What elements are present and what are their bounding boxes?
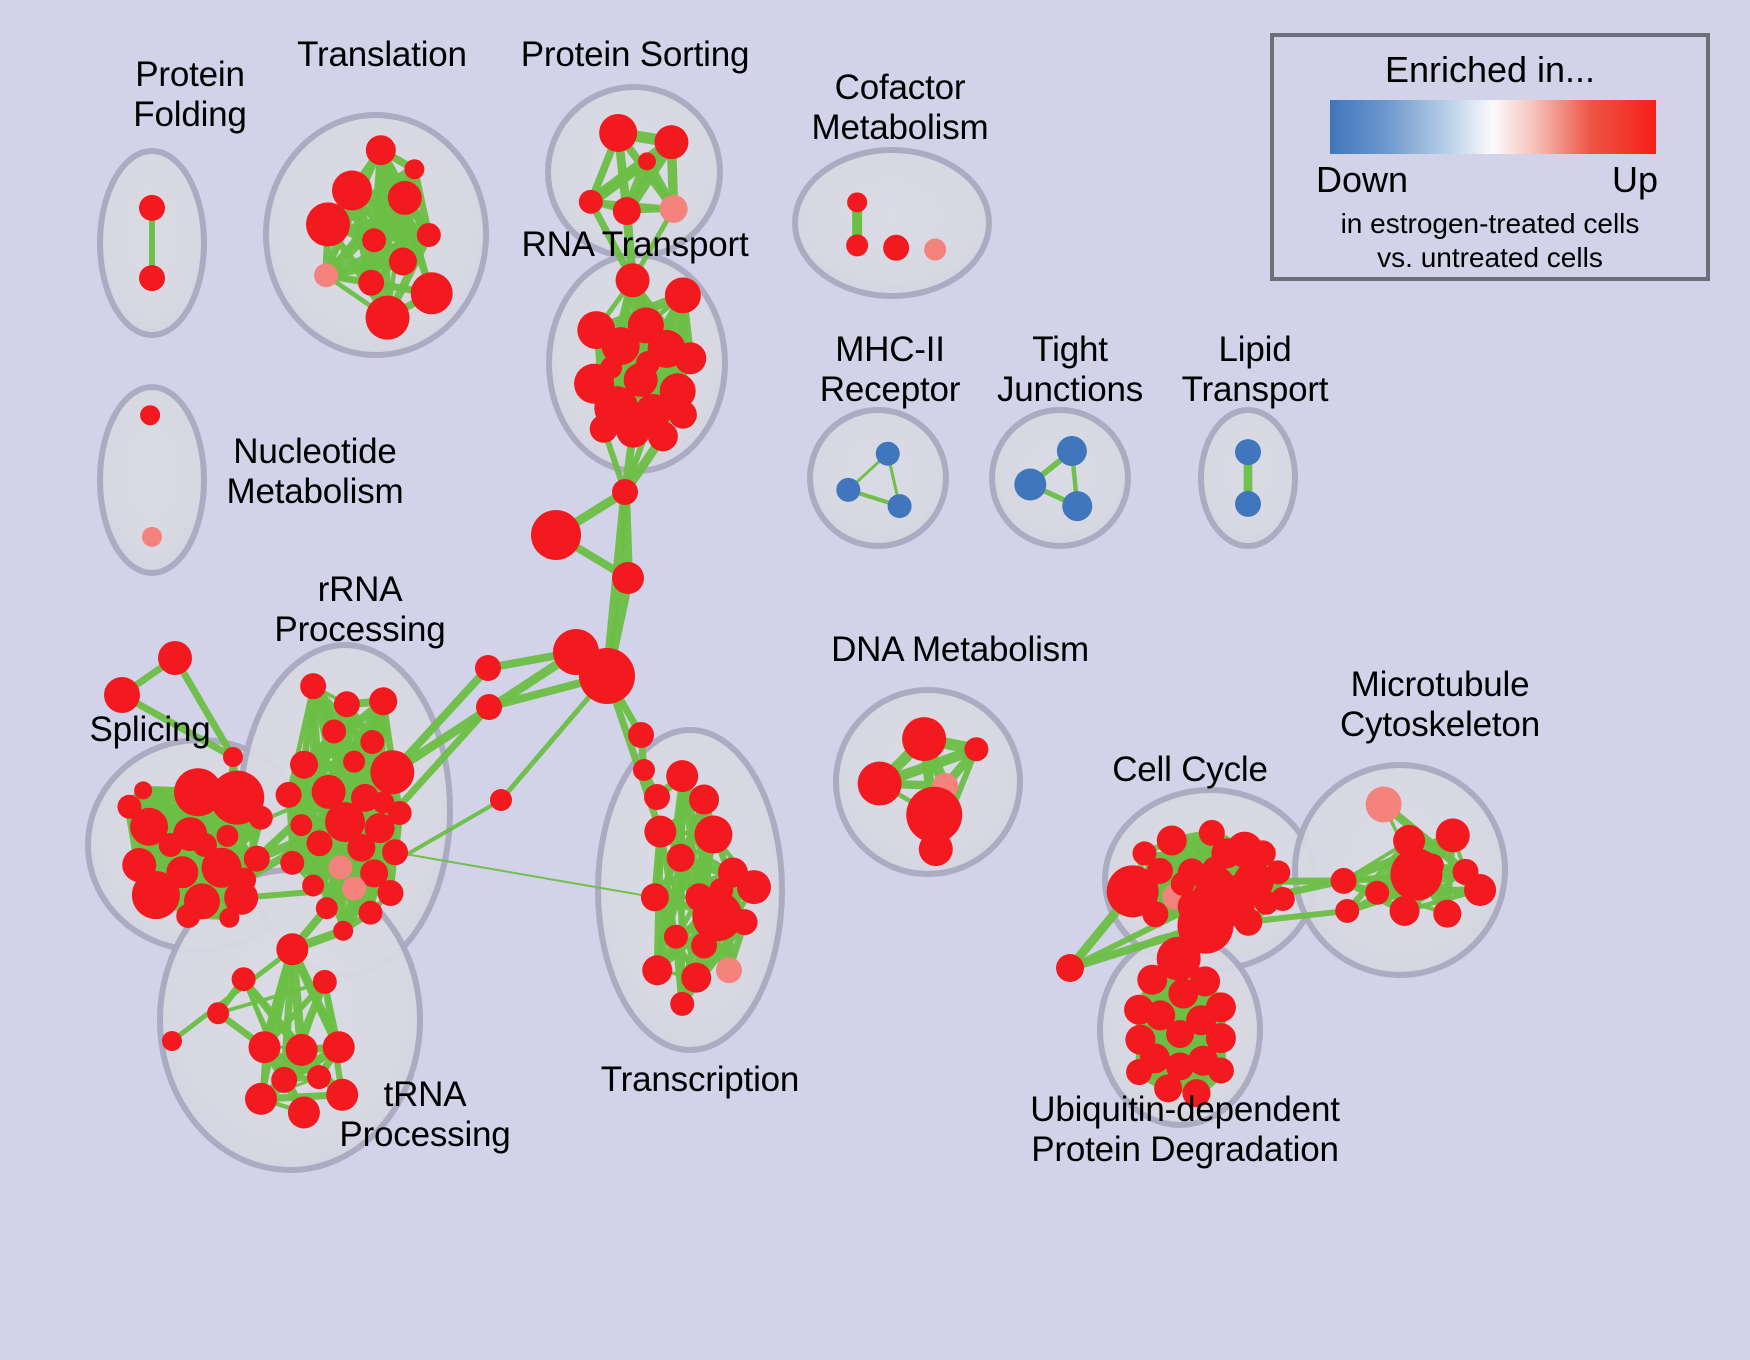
legend-title: Enriched in... [1274, 49, 1706, 91]
network-node-transcription [681, 963, 711, 993]
network-node-lipid-transport [1235, 439, 1261, 465]
network-node-splicing [232, 868, 256, 892]
network-node-ubiquitin-protein-degradation [1126, 1059, 1152, 1085]
cluster-label-microtubule-cytoskeleton: Microtubule Cytoskeleton [1290, 665, 1590, 745]
network-node-microtubule-cytoskeleton [1335, 899, 1359, 923]
network-node-splicing [159, 833, 183, 857]
network-node-cell-cycle [1171, 872, 1195, 896]
network-node-microtubule-cytoskeleton [1390, 896, 1420, 926]
network-node-protein-sorting [638, 152, 656, 170]
network-node-trna-processing [207, 1002, 229, 1024]
network-node-transcription [737, 870, 771, 904]
legend-low-label: Down [1316, 159, 1408, 201]
network-node-rna-transport [636, 351, 660, 375]
network-node-protein-sorting [654, 125, 688, 159]
network-node-rna-transport [669, 401, 697, 429]
network-node-backbone-node-7 [476, 694, 502, 720]
network-node-rna-transport [674, 342, 706, 374]
network-node-rrna-processing [300, 673, 326, 699]
network-node-mhc-ii-receptor [836, 478, 860, 502]
network-node-splicing [219, 908, 239, 928]
network-node-nucleotide-metabolism [140, 405, 160, 425]
network-node-trna-processing [286, 1034, 318, 1066]
network-node-transcription [667, 844, 695, 872]
network-node-backbone-node-5 [579, 648, 635, 704]
network-node-translation [404, 159, 424, 179]
network-node-translation [388, 181, 422, 215]
network-node-rrna-processing [307, 830, 333, 856]
network-node-cell-cycle [1271, 887, 1295, 911]
network-node-backbone-node-1 [612, 479, 638, 505]
network-node-backbone-node-6 [475, 655, 501, 681]
network-node-transcription [670, 992, 694, 1016]
network-node-translation [366, 135, 396, 165]
legend-color-scale [1330, 100, 1656, 154]
network-node-lipid-transport [1235, 491, 1261, 517]
network-node-splicing [244, 846, 270, 872]
network-node-ubiquitin-protein-degradation [1166, 1020, 1194, 1048]
network-node-microtubule-cytoskeleton [1331, 868, 1357, 894]
network-node-rrna-processing [302, 875, 324, 897]
network-node-microtubule-cytoskeleton [1433, 900, 1461, 928]
network-node-backbone-node-9 [633, 759, 655, 781]
network-node-microtubule-cytoskeleton [1366, 786, 1402, 822]
cluster-label-splicing: Splicing [55, 710, 245, 750]
network-node-transcription [709, 878, 733, 902]
network-node-cofactor-metabolism [846, 234, 868, 256]
network-node-cofactor-metabolism [883, 235, 909, 261]
network-node-rrna-processing [347, 834, 375, 862]
network-node-translation [411, 272, 453, 314]
network-node-protein-sorting [579, 190, 603, 214]
network-node-splicing [249, 806, 273, 830]
network-node-rrna-processing [322, 719, 346, 743]
network-node-protein-sorting [599, 114, 637, 152]
network-node-microtubule-cytoskeleton [1420, 853, 1444, 877]
network-node-rrna-processing [372, 791, 394, 813]
network-node-tight-junctions [1057, 436, 1087, 466]
network-node-trna-processing [323, 1031, 355, 1063]
network-node-trna-processing [271, 1067, 297, 1093]
network-node-dna-metabolism [858, 762, 902, 806]
network-node-rna-transport [590, 415, 618, 443]
network-node-rrna-processing [343, 751, 365, 773]
network-node-transcription [689, 784, 719, 814]
network-node-rrna-processing [333, 921, 353, 941]
network-node-transcription [732, 909, 758, 935]
network-node-rna-transport [600, 357, 622, 379]
network-node-rrna-processing [280, 851, 304, 875]
cluster-label-cell-cycle: Cell Cycle [1075, 750, 1305, 790]
network-node-rrna-processing [276, 782, 302, 808]
network-node-backbone-node-10 [644, 784, 670, 810]
network-node-ubiquitin-protein-degradation [1168, 979, 1198, 1009]
network-node-splicing-spur-a [158, 641, 192, 675]
network-node-rrna-processing [370, 750, 414, 794]
network-node-rna-transport [616, 414, 650, 448]
network-node-splicing [176, 904, 200, 928]
network-node-backbone-node-2 [531, 510, 581, 560]
network-node-cofactor-metabolism [847, 192, 867, 212]
cluster-label-mhc-ii-receptor: MHC-II Receptor [790, 330, 990, 410]
network-node-protein-folding [139, 195, 165, 221]
network-node-transcription [641, 883, 669, 911]
network-node-trna-processing [232, 967, 256, 991]
network-node-trna-processing [245, 1083, 277, 1115]
cluster-label-nucleotide-metabolism: Nucleotide Metabolism [185, 432, 445, 512]
network-node-backbone-node-3 [612, 562, 644, 594]
legend-box: Enriched in... Down Up in estrogen-treat… [1270, 33, 1710, 281]
cluster-label-rna-transport: RNA Transport [490, 225, 780, 265]
network-node-translation [366, 296, 410, 340]
network-node-protein-folding [139, 265, 165, 291]
cluster-label-translation: Translation [252, 35, 512, 75]
network-node-rrna-processing [382, 839, 408, 865]
cluster-hull-cofactor-metabolism [795, 150, 989, 296]
network-node-mhc-ii-receptor [876, 442, 900, 466]
network-node-transcription [666, 760, 698, 792]
network-node-transcription [644, 816, 676, 848]
network-node-cell-cycle [1250, 840, 1276, 866]
network-node-trna-processing [313, 970, 337, 994]
network-node-splicing [117, 795, 141, 819]
network-node-rna-transport [616, 263, 650, 297]
network-node-ubiquitin-protein-degradation [1137, 965, 1167, 995]
network-node-splicing-spur-b [104, 677, 140, 713]
cluster-label-rrna-processing: rRNA Processing [235, 570, 485, 650]
network-node-dna-metabolism [902, 717, 946, 761]
network-node-rrna-processing [342, 877, 366, 901]
network-node-microtubule-cytoskeleton [1464, 874, 1496, 906]
cluster-label-lipid-transport: Lipid Transport [1155, 330, 1355, 410]
cluster-label-trna-processing: tRNA Processing [300, 1075, 550, 1155]
network-node-mhc-ii-receptor [888, 494, 912, 518]
network-node-rna-transport [665, 277, 701, 313]
network-node-backbone-node-8 [628, 722, 654, 748]
network-node-tight-junctions [1062, 491, 1092, 521]
network-node-splicing-spur-c [223, 747, 243, 767]
network-node-trna-processing [276, 933, 308, 965]
network-node-nucleotide-metabolism [142, 527, 162, 547]
legend-high-label: Up [1612, 159, 1658, 201]
cluster-label-tight-junctions: Tight Junctions [975, 330, 1165, 410]
network-node-ubq-bridge-node [1056, 954, 1084, 982]
network-node-dna-metabolism [919, 832, 953, 866]
network-node-trna-processing [248, 1031, 280, 1063]
network-node-ubiquitin-protein-degradation [1208, 1058, 1234, 1084]
network-node-rrna-processing [290, 751, 318, 779]
network-node-transcription [642, 955, 672, 985]
network-node-cell-cycle [1157, 825, 1187, 855]
network-node-backbone-node-11 [490, 789, 512, 811]
network-node-splicing [216, 825, 238, 847]
network-node-tight-junctions [1014, 468, 1046, 500]
network-node-transcription [716, 957, 742, 983]
network-node-cell-cycle [1234, 908, 1262, 936]
network-node-microtubule-cytoskeleton [1365, 881, 1389, 905]
network-node-trna-spur [162, 1031, 182, 1051]
network-node-protein-sorting [613, 197, 641, 225]
network-node-transcription [694, 816, 732, 854]
network-node-rrna-processing [328, 855, 352, 879]
network-node-rrna-processing [358, 901, 382, 925]
cluster-label-dna-metabolism: DNA Metabolism [800, 630, 1120, 670]
network-node-translation [314, 263, 338, 287]
network-node-transcription [691, 932, 717, 958]
cluster-label-ubiquitin-protein-degradation: Ubiquitin-dependent Protein Degradation [975, 1090, 1395, 1170]
network-node-transcription [664, 925, 688, 949]
network-node-rrna-processing [378, 880, 404, 906]
network-node-cell-cycle [1142, 901, 1168, 927]
network-node-cofactor-metabolism [924, 239, 946, 261]
cluster-label-transcription: Transcription [565, 1060, 835, 1100]
network-node-rrna-processing [360, 730, 384, 754]
network-node-translation [306, 202, 350, 246]
network-node-cell-cycle [1193, 882, 1217, 906]
network-node-rrna-processing [334, 691, 360, 717]
network-node-rrna-processing [369, 687, 397, 715]
network-node-splicing [132, 871, 180, 919]
network-node-cell-cycle [1203, 857, 1227, 881]
cluster-hull-tight-junctions [992, 410, 1128, 546]
network-node-rrna-processing [290, 814, 312, 836]
network-node-translation [358, 270, 384, 296]
network-node-rrna-processing [316, 897, 338, 919]
network-node-cell-cycle [1132, 841, 1156, 865]
network-node-cell-cycle [1224, 875, 1250, 901]
network-node-splicing [134, 781, 152, 799]
network-node-translation [417, 223, 441, 247]
network-node-rna-transport [648, 421, 678, 451]
network-node-translation [389, 248, 417, 276]
network-node-dna-metabolism [964, 737, 988, 761]
network-node-translation [332, 170, 372, 210]
cluster-label-cofactor-metabolism: Cofactor Metabolism [775, 68, 1025, 148]
cluster-label-protein-sorting: Protein Sorting [490, 35, 780, 75]
network-node-splicing [193, 833, 217, 857]
enrichment-map-figure: Protein FoldingTranslationProtein Sortin… [0, 0, 1750, 1360]
network-node-microtubule-cytoskeleton [1436, 818, 1470, 852]
legend-caption: in estrogen-treated cells vs. untreated … [1274, 207, 1706, 275]
cluster-hull-mhc-ii-receptor [810, 410, 946, 546]
network-node-protein-sorting [660, 195, 688, 223]
network-node-translation [362, 228, 386, 252]
